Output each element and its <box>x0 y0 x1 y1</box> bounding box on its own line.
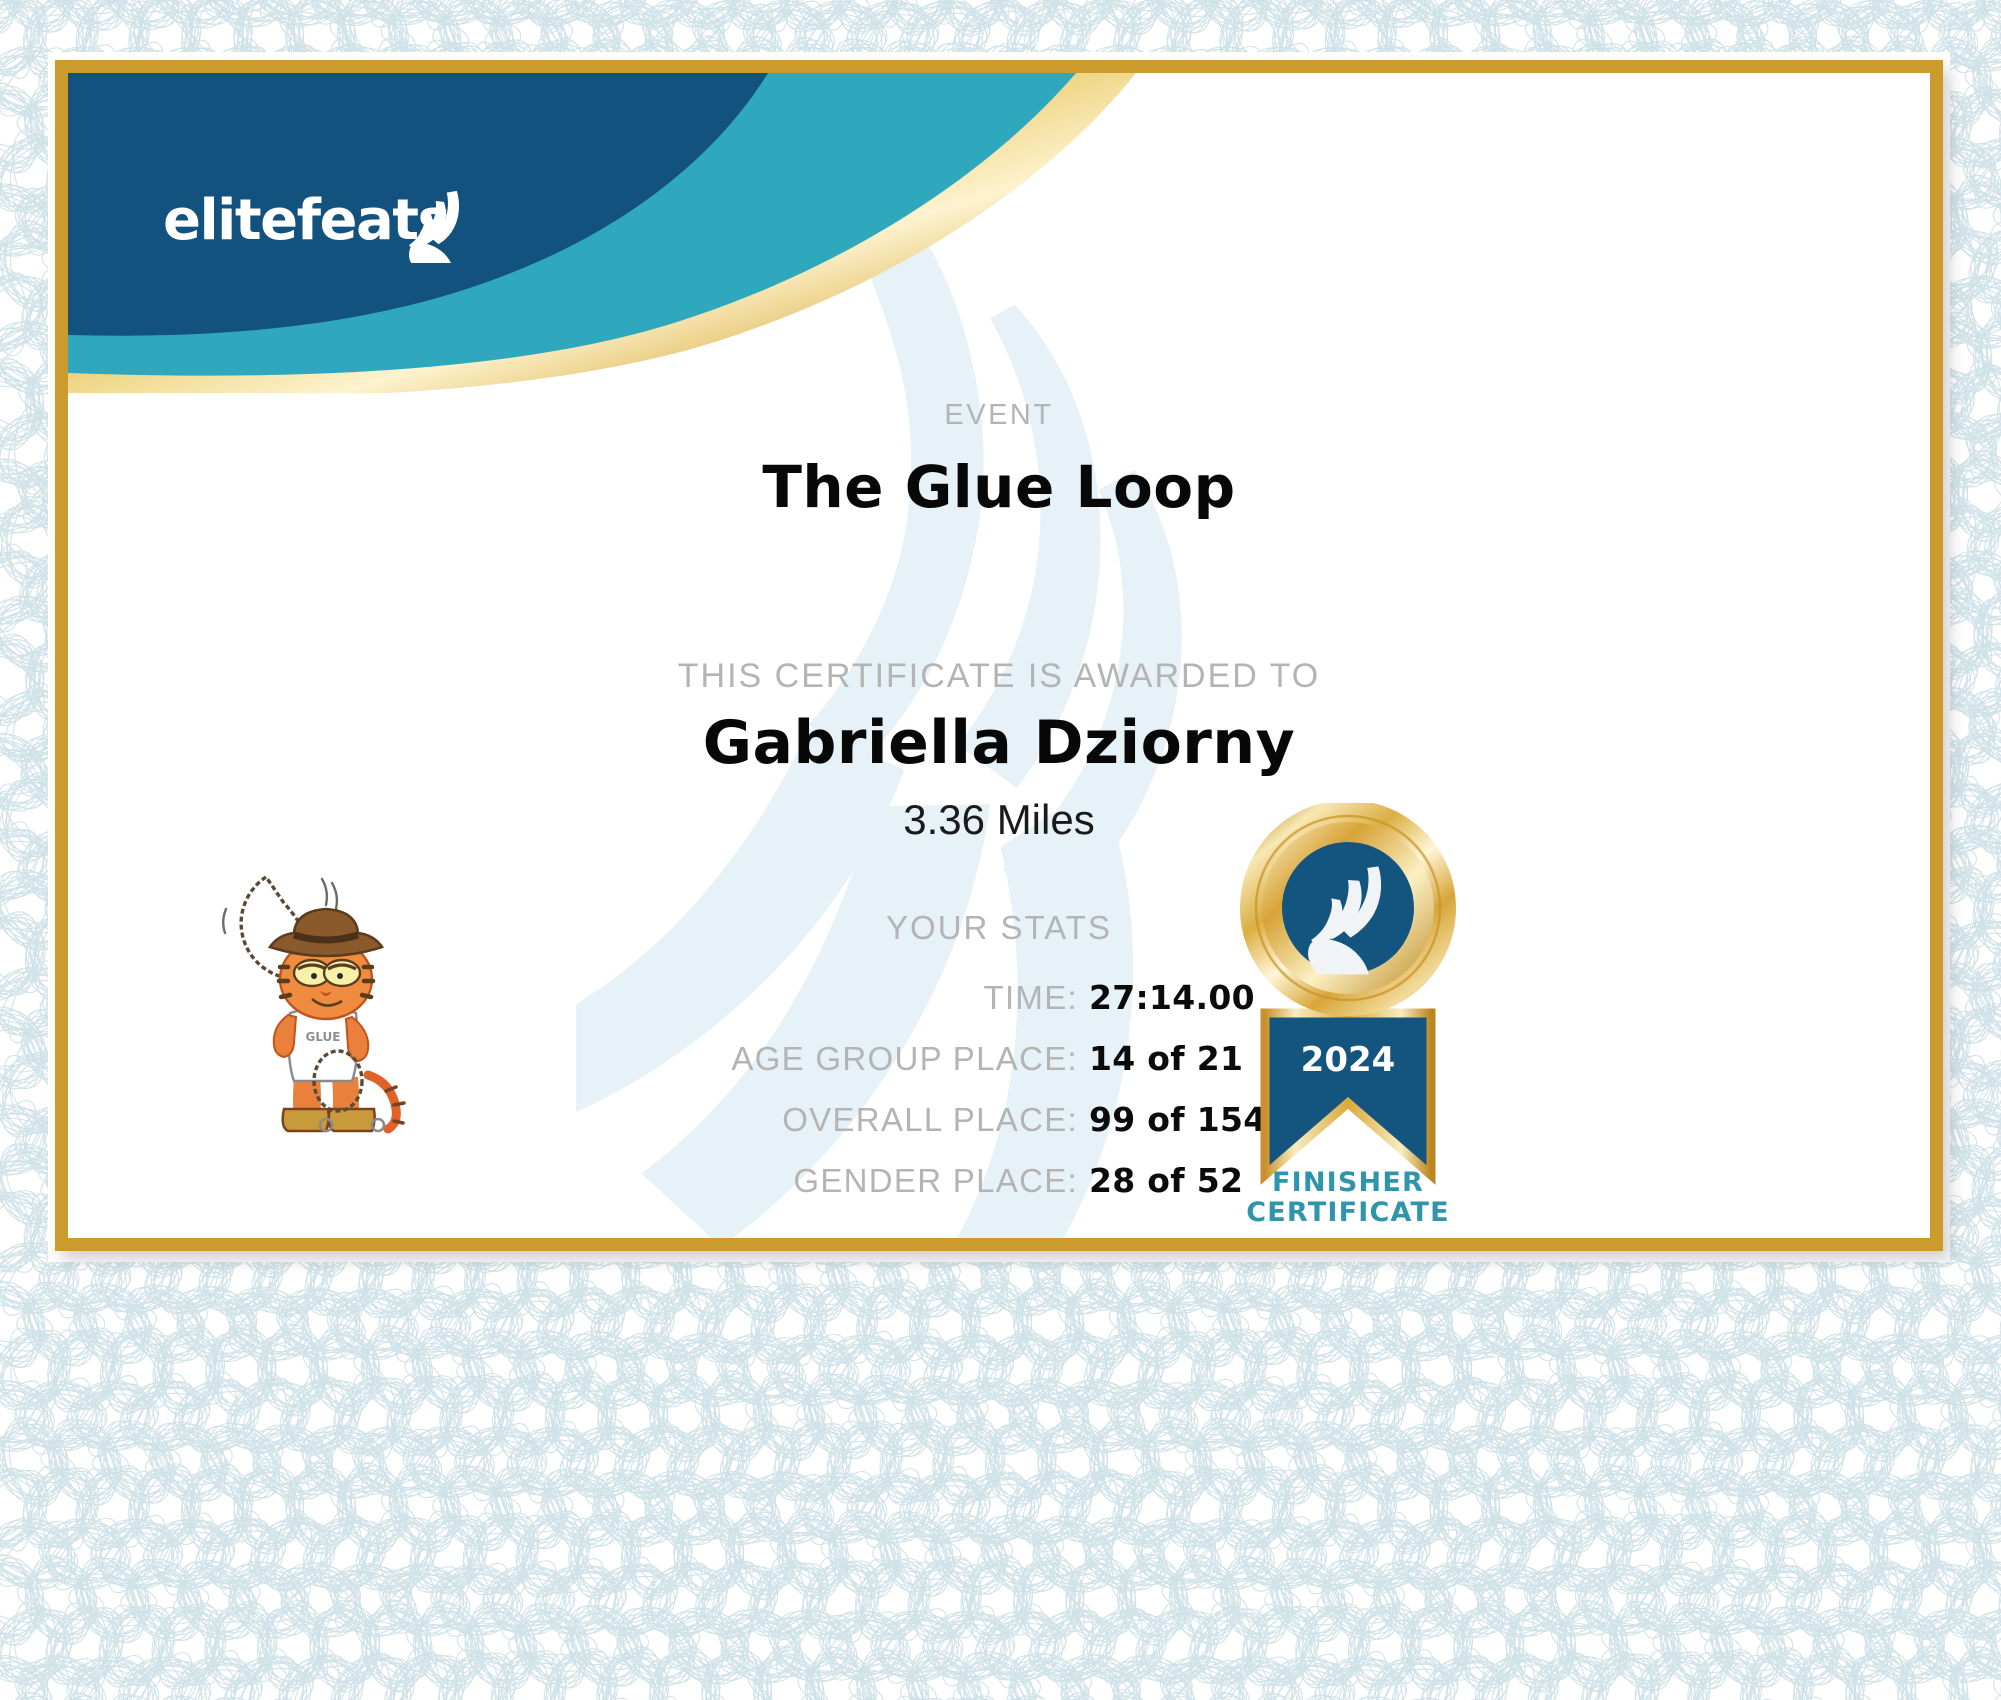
finisher-certificate-caption: FINISHER CERTIFICATE <box>1193 1168 1503 1228</box>
certificate-card: elitefeats <box>55 60 1943 1251</box>
finisher-medal-badge: 2024 <box>1203 803 1493 1223</box>
awarded-to-label: THIS CERTIFICATE IS AWARDED TO <box>68 657 1930 696</box>
stat-label: GENDER PLACE: <box>68 1162 1078 1200</box>
badge-year: 2024 <box>1301 1040 1396 1080</box>
distance-value: 3.36 Miles <box>68 796 1930 844</box>
event-label: EVENT <box>68 399 1930 432</box>
cowboy-cat-lasso-icon: GLUE <box>208 863 418 1143</box>
finisher-line-1: FINISHER <box>1193 1168 1503 1198</box>
finisher-line-2: CERTIFICATE <box>1193 1198 1503 1228</box>
recipient-name: Gabriella Dziorny <box>68 708 1930 778</box>
event-title: The Glue Loop <box>68 453 1930 521</box>
stat-row: GENDER PLACE:28 of 52 <box>68 1161 1930 1200</box>
svg-text:GLUE: GLUE <box>305 1030 340 1044</box>
